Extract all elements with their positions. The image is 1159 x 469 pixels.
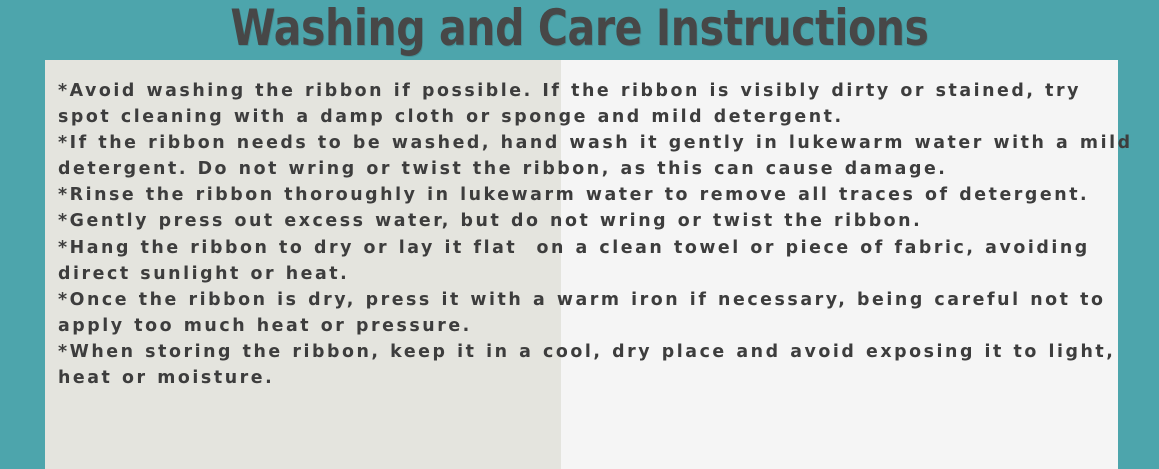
poster-root: Washing and Care Instructions *Avoid was… bbox=[0, 0, 1159, 469]
page-title: Washing and Care Instructions bbox=[104, 0, 1054, 58]
instructions-text: *Avoid washing the ribbon if possible. I… bbox=[58, 78, 1138, 391]
